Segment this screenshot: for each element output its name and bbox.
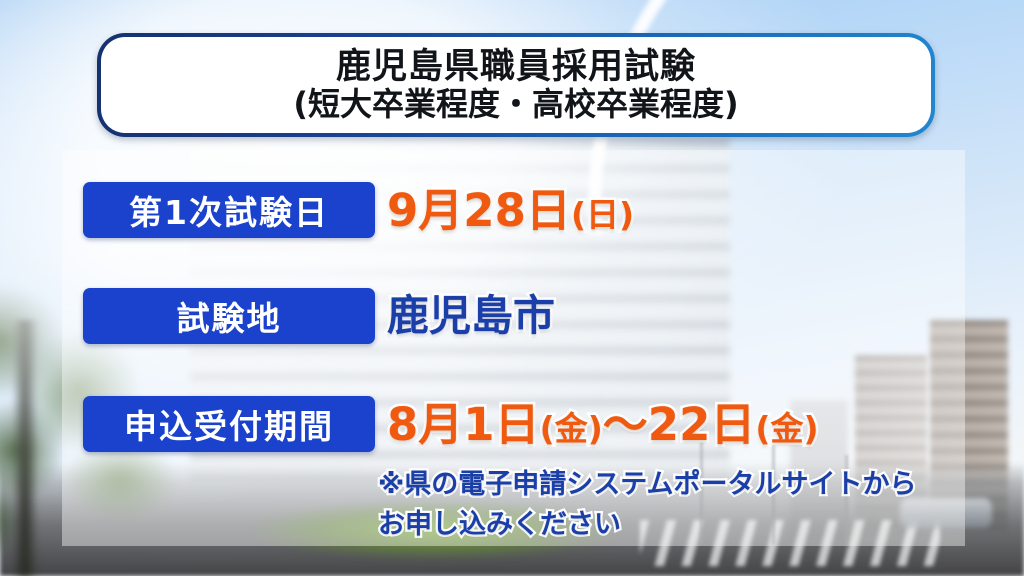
label-chip-exam-date: 第1次試験日 (83, 182, 375, 238)
page-title-line-2: (短大卒業程度・高校卒業程度) (293, 87, 738, 122)
page-title-line-1: 鹿児島県職員採用試験 (336, 49, 696, 87)
note-line-1: ※県の電子申請システムポータルサイトから (378, 462, 916, 501)
value-exam-location: 鹿児島市 (387, 295, 555, 337)
info-row-exam-location: 試験地 鹿児島市 (83, 288, 555, 344)
value-exam-date: 9月28日(日) (387, 188, 634, 233)
note-line-2: お申し込みください (378, 502, 621, 541)
label-text-application-period: 申込受付期間 (124, 400, 334, 448)
value-exam-date-main: 9月28日 (387, 184, 571, 237)
value-exam-date-weekday: (日) (571, 195, 634, 234)
value-application-end-weekday: (金) (755, 409, 818, 448)
label-text-exam-location: 試験地 (177, 292, 282, 340)
value-application-end: ～22日 (603, 398, 756, 451)
info-row-exam-date: 第1次試験日 9月28日(日) (83, 182, 634, 238)
info-row-application-period: 申込受付期間 8月1日(金)～22日(金) (83, 396, 819, 452)
label-chip-exam-location: 試験地 (83, 288, 375, 344)
label-text-exam-date: 第1次試験日 (129, 186, 329, 234)
value-application-start-weekday: (金) (540, 409, 603, 448)
title-box: 鹿児島県職員採用試験 (短大卒業程度・高校卒業程度) (97, 33, 935, 137)
label-chip-application-period: 申込受付期間 (83, 396, 375, 452)
broadcast-graphic-screen: 鹿児島県職員採用試験 (短大卒業程度・高校卒業程度) 第1次試験日 9月28日(… (0, 0, 1024, 576)
title-box-inner: 鹿児島県職員採用試験 (短大卒業程度・高校卒業程度) (101, 37, 931, 133)
value-exam-location-main: 鹿児島市 (387, 291, 555, 340)
value-application-period: 8月1日(金)～22日(金) (387, 402, 819, 447)
value-application-start: 8月1日 (387, 398, 540, 451)
